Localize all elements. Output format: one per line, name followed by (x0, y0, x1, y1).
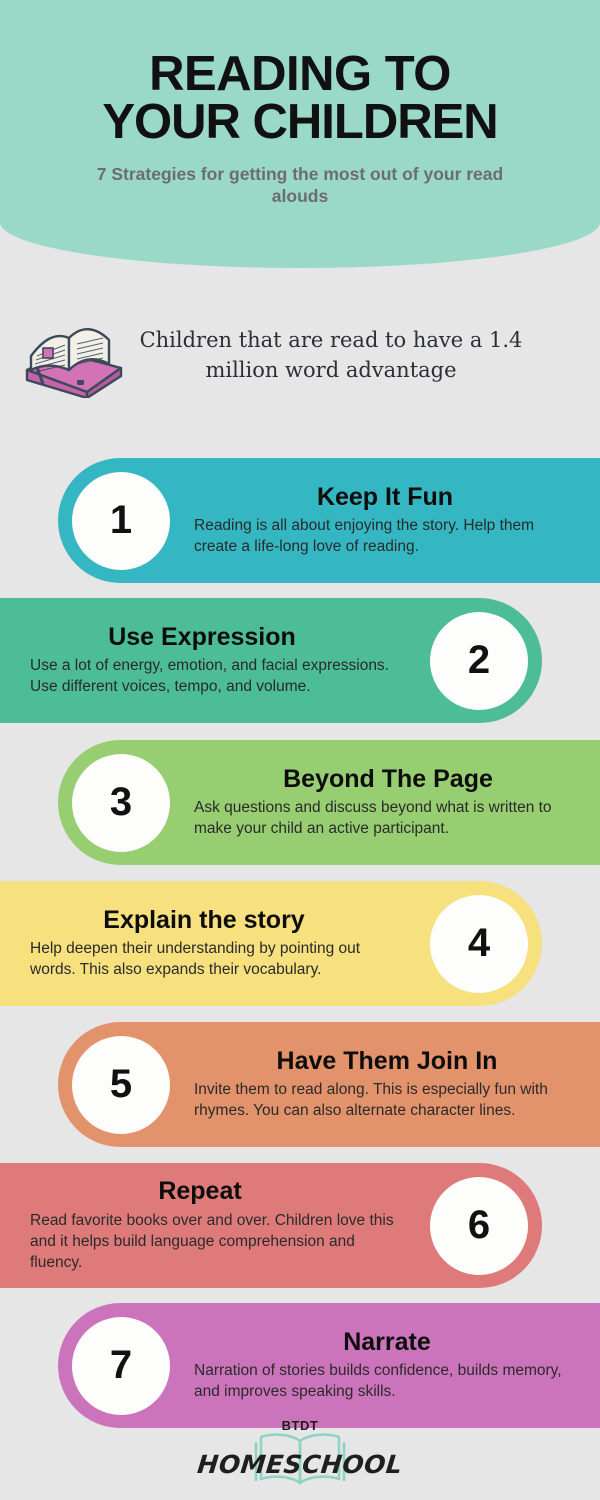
strategy-number-6: 6 (430, 1177, 528, 1275)
page-title: READING TO YOUR CHILDREN (18, 50, 582, 146)
footer-branding: BTDT HOMESCHOOL (0, 1418, 600, 1500)
strategy-row-6[interactable]: 6 Repeat Read favorite books over and ov… (0, 1163, 542, 1288)
strategy-row-1[interactable]: 1 Keep It Fun Reading is all about enjoy… (58, 458, 600, 583)
strategy-description-2: Use a lot of energy, emotion, and facial… (30, 655, 416, 697)
strategy-number-5: 5 (72, 1036, 170, 1134)
strategy-row-7[interactable]: 7 Narrate Narration of stories builds co… (58, 1303, 600, 1428)
strategy-row-3[interactable]: 3 Beyond The Page Ask questions and disc… (58, 740, 600, 865)
strategy-description-4: Help deepen their understanding by point… (30, 938, 416, 980)
strategy-description-1: Reading is all about enjoying the story.… (184, 515, 586, 557)
book-illustration-wrap (0, 312, 150, 398)
strategy-number-2: 2 (430, 612, 528, 710)
page-title-line-2: YOUR CHILDREN (18, 98, 582, 146)
strategy-title-7: Narrate (184, 1329, 586, 1355)
open-book-on-stack-icon (21, 312, 129, 398)
strategy-number-3: 3 (72, 754, 170, 852)
strategy-description-5: Invite them to read along. This is espec… (184, 1079, 586, 1121)
page-title-line-1: READING TO (149, 47, 451, 101)
strategy-description-6: Read favorite books over and over. Child… (30, 1210, 416, 1273)
strategy-row-2[interactable]: 2 Use Expression Use a lot of energy, em… (0, 598, 542, 723)
logo-brand-main: HOMESCHOOL (193, 1450, 406, 1479)
strategy-description-7: Narration of stories builds confidence, … (184, 1360, 586, 1402)
strategy-title-2: Use Expression (30, 624, 416, 650)
header-banner: READING TO YOUR CHILDREN 7 Strategies fo… (0, 0, 600, 268)
strategy-title-4: Explain the story (30, 907, 416, 933)
strategy-title-5: Have Them Join In (184, 1048, 586, 1074)
page-subtitle: 7 Strategies for getting the most out of… (85, 164, 515, 208)
strategy-title-1: Keep It Fun (184, 484, 586, 510)
strategy-description-3: Ask questions and discuss beyond what is… (184, 797, 586, 839)
logo: BTDT HOMESCHOOL (195, 1418, 405, 1498)
intro-section: Children that are read to have a 1.4 mil… (0, 300, 600, 410)
infographic-page: READING TO YOUR CHILDREN 7 Strategies fo… (0, 0, 600, 1500)
strategy-number-1: 1 (72, 472, 170, 570)
strategy-number-4: 4 (430, 895, 528, 993)
strategy-title-3: Beyond The Page (184, 766, 586, 792)
intro-text: Children that are read to have a 1.4 mil… (136, 325, 526, 386)
strategy-row-5[interactable]: 5 Have Them Join In Invite them to read … (58, 1022, 600, 1147)
strategy-row-4[interactable]: 4 Explain the story Help deepen their un… (0, 881, 542, 1006)
strategy-number-7: 7 (72, 1317, 170, 1415)
strategy-title-6: Repeat (30, 1178, 416, 1204)
